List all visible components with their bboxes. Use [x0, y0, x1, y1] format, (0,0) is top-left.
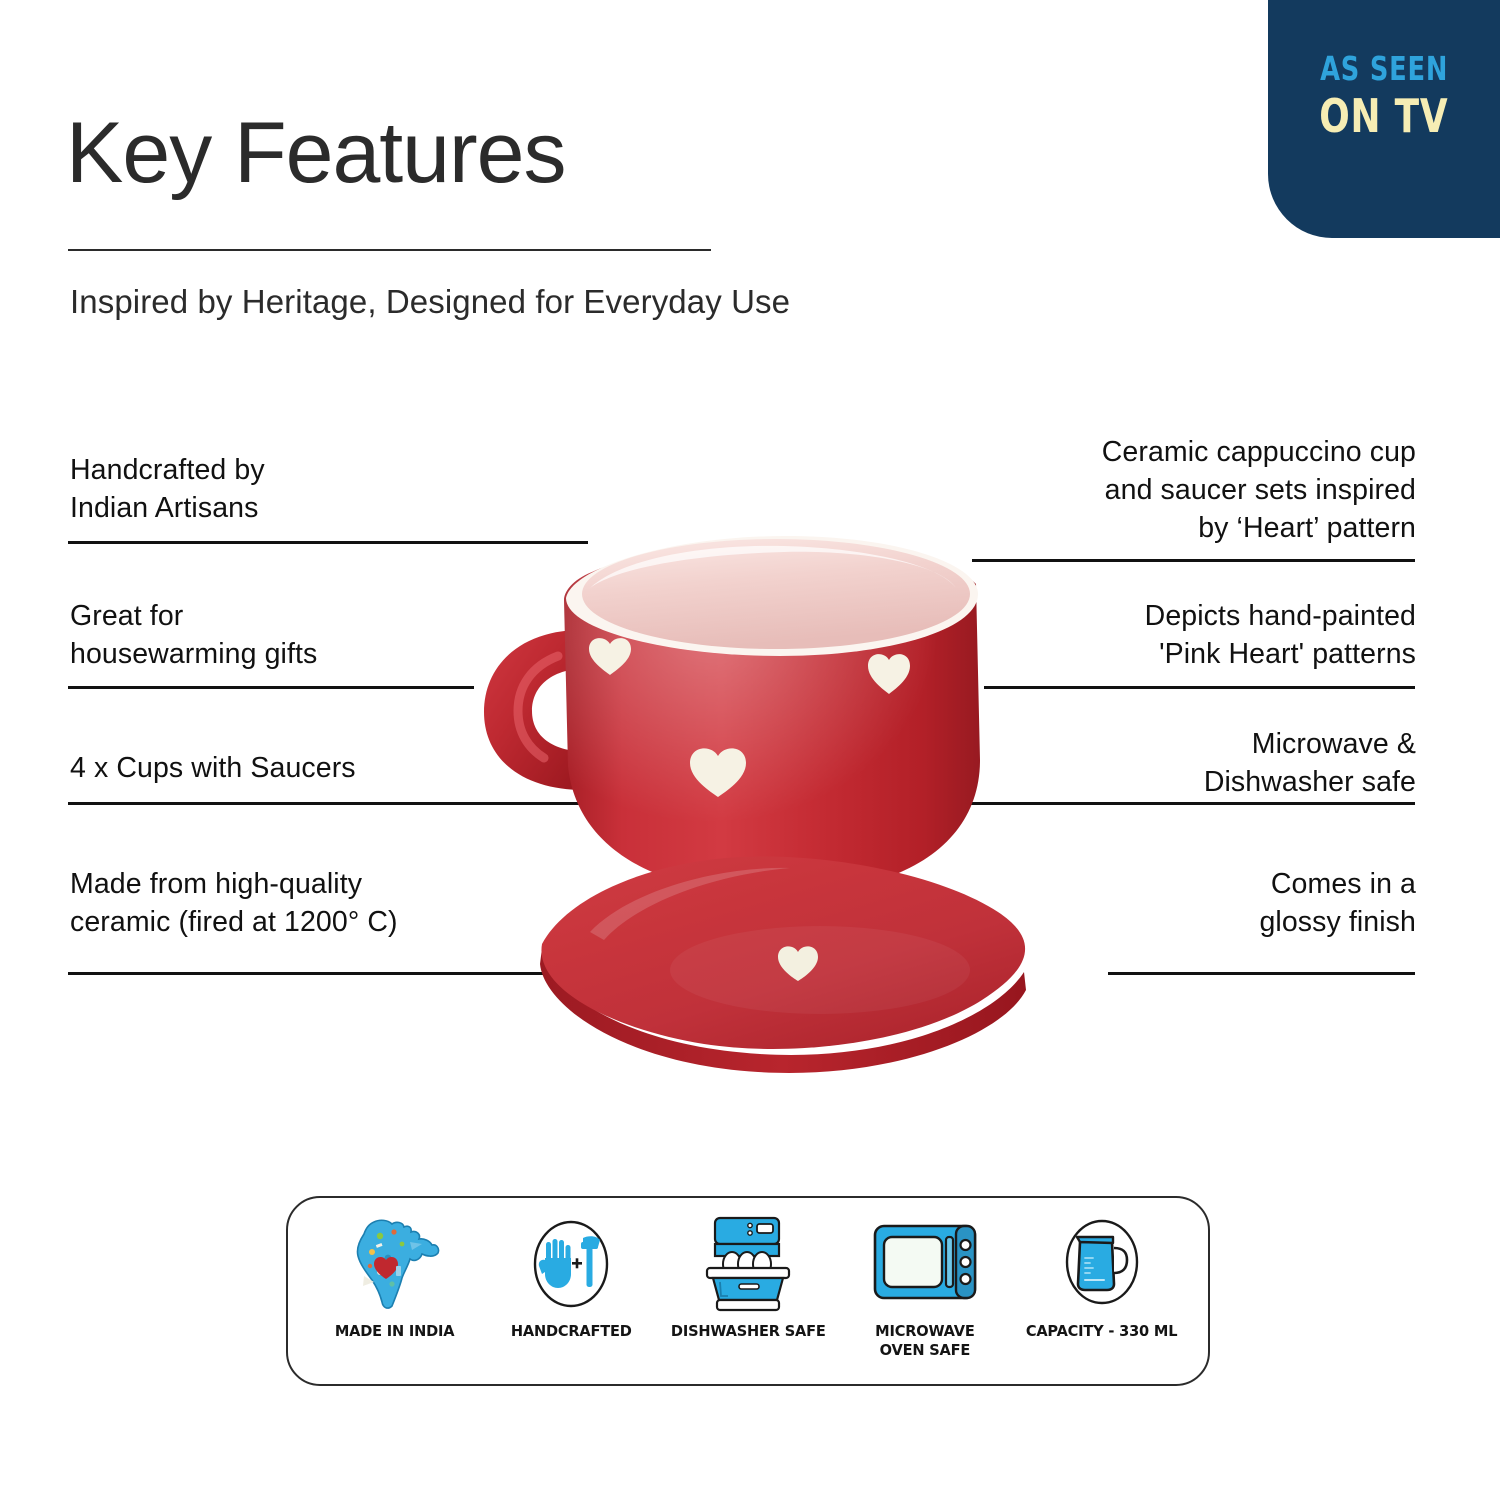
feature-left-2: Great for housewarming gifts: [70, 598, 317, 674]
feature-right-3: Microwave & Dishwasher safe: [1204, 726, 1416, 802]
feature-right-2: Depicts hand-painted 'Pink Heart' patter…: [1145, 598, 1416, 674]
badge-made-in-india: MADE IN INDIA: [308, 1212, 480, 1341]
title-divider: [68, 249, 711, 251]
page-subtitle: Inspired by Heritage, Designed for Every…: [70, 278, 790, 327]
feature-right-4: Comes in a glossy finish: [1259, 866, 1416, 942]
cup-body: [564, 538, 980, 894]
feature-divider-left-3: [68, 802, 705, 805]
feature-divider-left-4: [68, 972, 588, 975]
cup-handle: [484, 630, 590, 790]
badge-capacity: CAPACITY - 330 ML: [1016, 1212, 1188, 1341]
microwave-icon: [870, 1212, 980, 1316]
feature-divider-right-4: [1108, 972, 1415, 975]
saucer-product-image: [520, 840, 1080, 1120]
icon-label-made-in-india: MADE IN INDIA: [335, 1322, 455, 1341]
india-map-icon: [346, 1212, 442, 1316]
as-seen-on-tv-badge: AS SEEN ON TV: [1268, 0, 1500, 238]
feature-divider-right-2: [984, 686, 1415, 689]
badge-dishwasher-safe: DISHWASHER SAFE: [662, 1212, 834, 1341]
icon-label-microwave-oven-safe: MICROWAVE OVEN SAFE: [875, 1322, 974, 1361]
cup-product-image: [440, 460, 1080, 1100]
dishwasher-icon: [695, 1212, 801, 1316]
badge-line-on-tv: ON TV: [1319, 91, 1448, 142]
feature-divider-right-1: [972, 559, 1415, 562]
badge-line-as-seen: AS SEEN: [1320, 52, 1448, 87]
page-title: Key Features: [66, 108, 565, 198]
saucer-heart-motif: [778, 946, 818, 981]
feature-right-1: Ceramic cappuccino cup and saucer sets i…: [1102, 434, 1416, 548]
cup-heart-motifs: [589, 638, 910, 797]
icon-label-handcrafted: HANDCRAFTED: [511, 1322, 632, 1341]
icon-label-dishwasher-safe: DISHWASHER SAFE: [671, 1322, 826, 1341]
icon-label-capacity: CAPACITY - 330 ML: [1026, 1322, 1177, 1341]
feature-divider-left-1: [68, 541, 588, 544]
feature-divider-left-2: [68, 686, 474, 689]
saucer-surface: [541, 856, 1025, 1048]
feature-divider-right-3: [912, 802, 1415, 805]
badge-microwave-oven-safe: MICROWAVE OVEN SAFE: [839, 1212, 1011, 1361]
measuring-jug-icon: [1052, 1212, 1152, 1316]
feature-left-3: 4 x Cups with Saucers: [70, 750, 356, 788]
feature-left-1: Handcrafted by Indian Artisans: [70, 452, 265, 528]
feature-left-4: Made from high-quality ceramic (fired at…: [70, 866, 398, 942]
certification-icon-strip: MADE IN INDIA: [286, 1196, 1210, 1386]
hand-hammer-icon: [521, 1212, 621, 1316]
cup-rim: [566, 536, 978, 656]
badge-handcrafted: HANDCRAFTED: [485, 1212, 657, 1341]
cup-interior: [582, 539, 970, 649]
saucer-rim-thickness: [540, 948, 1026, 1073]
infographic-page: AS SEEN ON TV Key Features Inspired by H…: [0, 0, 1500, 1500]
